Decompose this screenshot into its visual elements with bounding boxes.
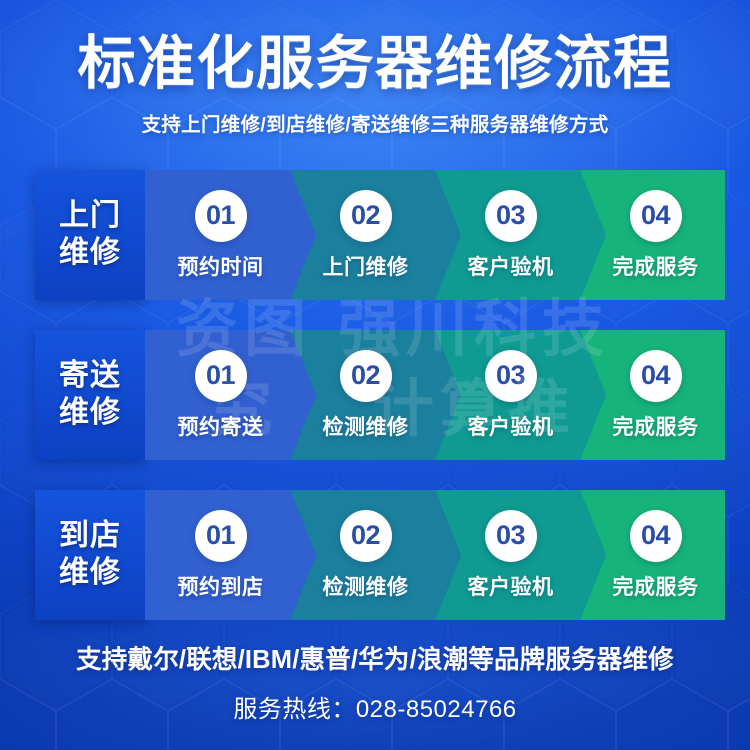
step-label: 完成服务 <box>613 251 699 281</box>
step-label: 预约时间 <box>178 251 264 281</box>
row-label-line2: 维修 <box>59 395 121 432</box>
step-label: 检测维修 <box>323 411 409 441</box>
step-number-badge: 02 <box>340 510 392 562</box>
step-inner: 01预约时间 <box>178 190 264 281</box>
page-title: 标准化服务器维修流程 <box>77 34 672 94</box>
row-label-line1: 上门 <box>59 198 121 235</box>
row-label-line1: 寄送 <box>59 358 121 395</box>
step-inner: 01预约寄送 <box>178 350 264 441</box>
step-inner: 01预约到店 <box>178 510 264 601</box>
step-number-badge: 03 <box>485 350 537 402</box>
step-number-badge: 04 <box>630 190 682 242</box>
step-inner: 02上门维修 <box>323 190 409 281</box>
step-inner: 04完成服务 <box>613 350 699 441</box>
flow-row: 到店维修01预约到店02检测维修03客户验机04完成服务 <box>35 490 725 620</box>
row-label-line1: 到店 <box>59 518 121 555</box>
step-inner: 04完成服务 <box>613 190 699 281</box>
page-subtitle: 支持上门维修/到店维修/寄送维修三种服务器维修方式 <box>142 108 609 137</box>
steps-track: 01预约到店02检测维修03客户验机04完成服务 <box>145 490 725 620</box>
step-number-badge: 03 <box>485 510 537 562</box>
step-number-badge: 02 <box>340 350 392 402</box>
step-number-badge: 01 <box>195 350 247 402</box>
step-label: 预约寄送 <box>178 411 264 441</box>
step-inner: 02检测维修 <box>323 350 409 441</box>
step-label: 完成服务 <box>613 411 699 441</box>
step-label: 客户验机 <box>468 251 554 281</box>
service-hotline-text: 服务热线：028-85024766 <box>233 689 516 724</box>
row-label-2: 到店维修 <box>35 490 145 620</box>
step-number-badge: 03 <box>485 190 537 242</box>
step-number-badge: 04 <box>630 350 682 402</box>
supported-brands-text: 支持戴尔/联想/IBM/惠普/华为/浪潮等品牌服务器维修 <box>76 639 674 676</box>
step-label: 完成服务 <box>613 571 699 601</box>
header: 标准化服务器维修流程 支持上门维修/到店维修/寄送维修三种服务器维修方式 <box>0 0 750 160</box>
step-inner: 02检测维修 <box>323 510 409 601</box>
step-label: 客户验机 <box>468 411 554 441</box>
step-number-badge: 01 <box>195 510 247 562</box>
step-label: 检测维修 <box>323 571 409 601</box>
step-inner: 03客户验机 <box>468 350 554 441</box>
step-number-badge: 01 <box>195 190 247 242</box>
row-label-line2: 维修 <box>59 235 121 272</box>
steps-track: 01预约寄送02检测维修03客户验机04完成服务 <box>145 330 725 460</box>
row-label-1: 寄送维修 <box>35 330 145 460</box>
flow-row: 寄送维修01预约寄送02检测维修03客户验机04完成服务 <box>35 330 725 460</box>
footer: 支持戴尔/联想/IBM/惠普/华为/浪潮等品牌服务器维修 服务热线：028-85… <box>0 639 750 724</box>
step-number-badge: 04 <box>630 510 682 562</box>
steps-track: 01预约时间02上门维修03客户验机04完成服务 <box>145 170 725 300</box>
step-label: 上门维修 <box>323 251 409 281</box>
row-label-0: 上门维修 <box>35 170 145 300</box>
flow-row: 上门维修01预约时间02上门维修03客户验机04完成服务 <box>35 170 725 300</box>
step-inner: 04完成服务 <box>613 510 699 601</box>
row-label-line2: 维修 <box>59 555 121 592</box>
step-inner: 03客户验机 <box>468 510 554 601</box>
step-label: 预约到店 <box>178 571 264 601</box>
step-inner: 03客户验机 <box>468 190 554 281</box>
step-label: 客户验机 <box>468 571 554 601</box>
step-number-badge: 02 <box>340 190 392 242</box>
